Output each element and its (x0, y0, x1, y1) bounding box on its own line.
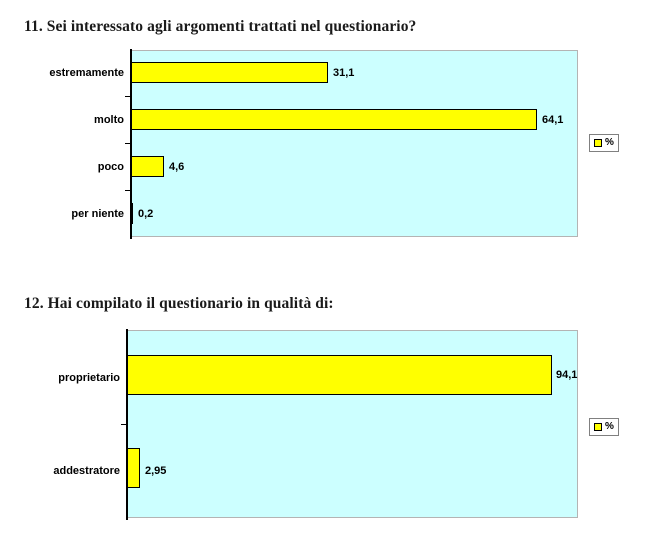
bar-addestratore (127, 448, 140, 488)
category-label-proprietario: proprietario (0, 373, 120, 384)
category-label-estremamente: estremamente (0, 68, 124, 79)
legend-swatch-icon (594, 139, 602, 147)
page-title-question-12: 12. Hai compilato il questionario in qua… (24, 295, 334, 313)
category-label-addestratore: addestratore (0, 466, 120, 477)
bar-proprietario (127, 355, 552, 395)
legend-swatch-icon (594, 423, 602, 431)
category-label-poco: poco (0, 162, 124, 173)
bar-poco (131, 156, 164, 177)
bar-value-molto: 64,1 (542, 115, 563, 126)
bar-value-poco: 4,6 (169, 162, 184, 173)
y-axis-tick (125, 96, 130, 97)
chart-block-question-12: 12. Hai compilato il questionario in qua… (0, 285, 650, 537)
bar-per-niente (131, 203, 133, 224)
bar-molto (131, 109, 537, 130)
bar-value-proprietario: 94,1 (556, 370, 577, 381)
category-label-molto: molto (0, 115, 124, 126)
legend-question-12[interactable]: % (589, 418, 619, 436)
bar-value-addestratore: 2,95 (145, 466, 166, 477)
legend-label-percent: % (605, 138, 614, 148)
page-title-question-11: 11. Sei interessato agli argomenti tratt… (24, 18, 416, 36)
y-axis-tick (121, 424, 126, 425)
bar-value-estremamente: 31,1 (333, 68, 354, 79)
chart-block-question-11: 11. Sei interessato agli argomenti tratt… (0, 0, 650, 280)
bar-value-per-niente: 0,2 (138, 209, 153, 220)
y-axis-tick (125, 143, 130, 144)
legend-question-11[interactable]: % (589, 134, 619, 152)
bar-estremamente (131, 62, 328, 83)
category-label-per-niente: per niente (0, 209, 124, 220)
y-axis-tick (125, 190, 130, 191)
legend-label-percent: % (605, 422, 614, 432)
